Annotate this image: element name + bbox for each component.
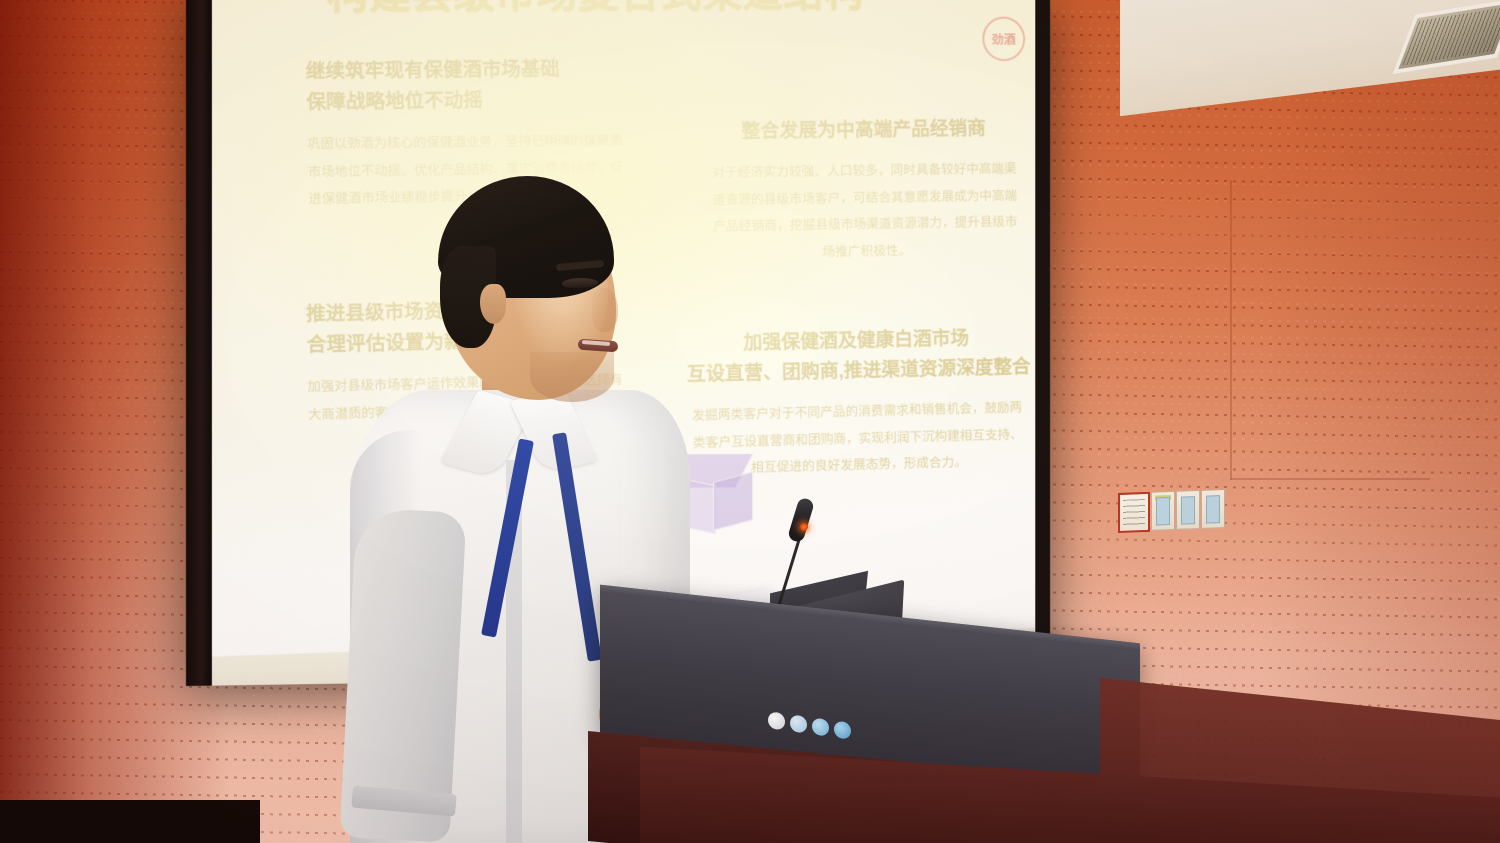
wall-control-panels — [1118, 489, 1225, 533]
nose — [592, 288, 618, 332]
slide-block-right-top: 整合发展为中高端产品经销商 对于经济实力较强、人口较多，同时具备较好中高端渠道资… — [708, 114, 1021, 268]
light-switch-2[interactable] — [1176, 490, 1200, 530]
switch-face[interactable] — [1181, 496, 1195, 525]
podium-logo-dot-3 — [812, 717, 830, 736]
chin-shadow — [530, 352, 614, 402]
wall-seam-vertical — [1230, 180, 1232, 480]
brand-seal-icon: 劲酒 — [982, 17, 1025, 62]
presentation-photo: 构建县级市场复合式渠道结构 劲酒 继续筑牢现有保健酒市场基础 保障战略地位不动摇… — [0, 0, 1500, 843]
podium-logo-dot-4 — [834, 720, 852, 739]
block-heading-line2: 互设直营、团购商,推进渠道资源深度整合 — [687, 353, 1026, 391]
light-switch-1[interactable] — [1151, 491, 1175, 531]
wall-seam-horizontal — [1230, 478, 1430, 480]
microphone-led-icon — [800, 523, 808, 531]
block-body: 对于经济实力较强、人口较多，同时具备较好中高端渠道资源的县级市场客户，可结合其意… — [709, 155, 1021, 267]
ear — [480, 284, 506, 324]
switch-face[interactable] — [1156, 497, 1170, 526]
notice-plate-lines — [1123, 499, 1145, 526]
podium-logo-dot-1 — [768, 711, 786, 730]
switch-face[interactable] — [1206, 495, 1220, 524]
light-switch-3[interactable] — [1201, 489, 1225, 529]
slide-title: 构建县级市场复合式渠道结构 — [326, 0, 1015, 22]
block-heading-line2: 保障战略地位不动摇 — [306, 84, 628, 118]
block-heading-line1: 继续筑牢现有保健酒市场基础 — [305, 54, 627, 88]
podium-logo-dot-2 — [790, 714, 808, 733]
notice-plate — [1118, 492, 1150, 533]
floor-shadow — [0, 800, 260, 843]
block-heading-line1: 整合发展为中高端产品经销商 — [708, 114, 1019, 148]
